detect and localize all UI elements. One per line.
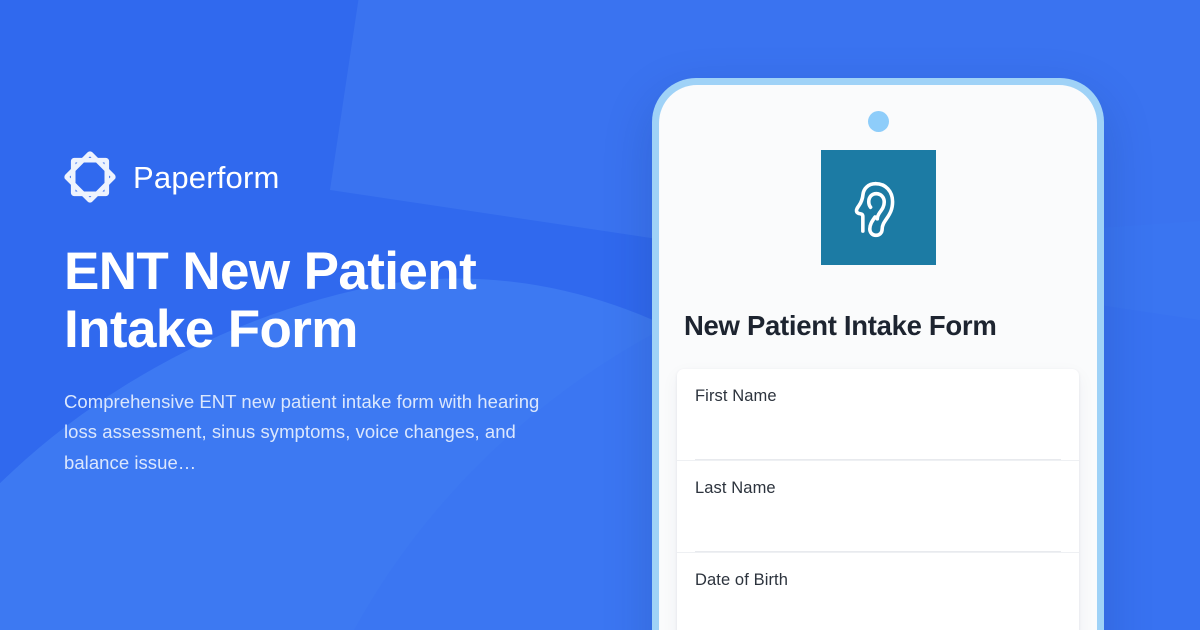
form-title: New Patient Intake Form xyxy=(684,310,996,342)
page-title: ENT New Patient Intake Form xyxy=(64,243,534,360)
og-card: Paperform ENT New Patient Intake Form Co… xyxy=(0,0,1200,630)
field-label: Date of Birth xyxy=(695,571,1061,590)
field-label: Last Name xyxy=(695,479,1061,498)
last-name-input[interactable] xyxy=(695,508,1061,552)
field-label: First Name xyxy=(695,387,1061,406)
camera-dot-icon xyxy=(868,111,889,132)
date-of-birth-input[interactable] xyxy=(695,600,1061,630)
paperform-logo-icon xyxy=(64,151,116,203)
form-field-date-of-birth[interactable]: Date of Birth xyxy=(677,553,1079,630)
form-card: First Name Last Name Date of Birth xyxy=(677,369,1079,630)
phone-screen: New Patient Intake Form First Name Last … xyxy=(659,85,1097,630)
phone-mockup: New Patient Intake Form First Name Last … xyxy=(652,78,1104,630)
brand-name: Paperform xyxy=(133,162,280,193)
brand-lockup: Paperform xyxy=(64,151,624,203)
form-field-last-name[interactable]: Last Name xyxy=(677,461,1079,553)
form-field-first-name[interactable]: First Name xyxy=(677,369,1079,461)
first-name-input[interactable] xyxy=(695,416,1061,460)
ear-icon xyxy=(821,150,936,265)
page-description: Comprehensive ENT new patient intake for… xyxy=(64,387,564,479)
hero-text-column: Paperform ENT New Patient Intake Form Co… xyxy=(64,0,624,630)
